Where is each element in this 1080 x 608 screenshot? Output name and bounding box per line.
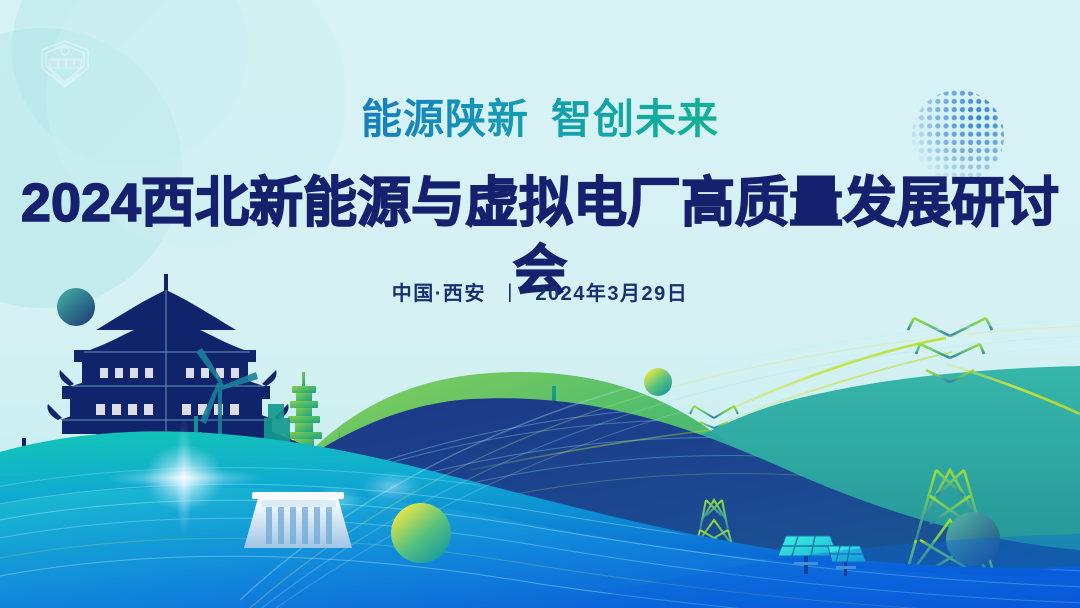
- tagline-right: 智创未来: [551, 96, 719, 142]
- shield-watermark-logo[interactable]: [34, 36, 96, 92]
- decor-sphere-small-green: [644, 368, 672, 396]
- decor-sphere-green: [391, 503, 451, 563]
- event-date: 2024年3月29日: [535, 283, 688, 305]
- tagline-left: 能源陕新: [361, 96, 529, 142]
- meta-divider: 丨: [500, 277, 522, 306]
- event-location: 中国·西安: [392, 283, 486, 305]
- banner-poster: 能源陕新智创未来 2024西北新能源与虚拟电厂高质量发展研讨会 中国·西安丨20…: [0, 0, 1080, 608]
- event-meta: 中国·西安丨2024年3月29日: [0, 277, 1080, 306]
- banner-tagline: 能源陕新智创未来: [0, 95, 1080, 144]
